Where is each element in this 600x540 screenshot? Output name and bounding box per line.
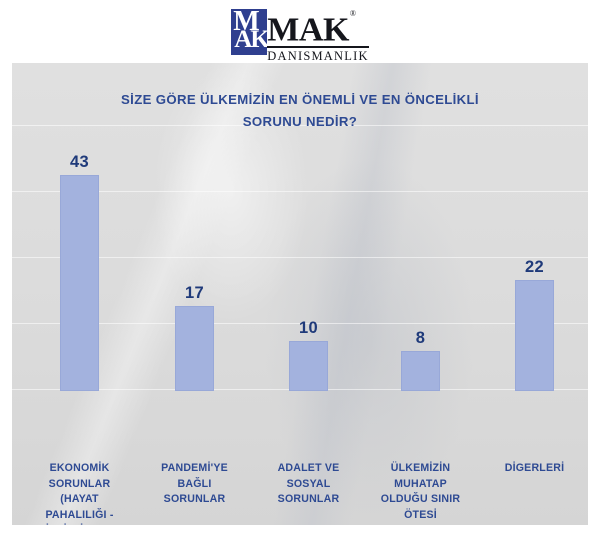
bar[interactable] (289, 341, 328, 391)
chart-panel: SİZE GÖRE ÜLKEMİZİN EN ÖNEMLİ VE EN ÖNCE… (12, 63, 588, 525)
bar[interactable] (175, 306, 214, 391)
category-label-digerleri: DİGERLERİ (477, 461, 588, 477)
logo-name-text: MAK (267, 11, 349, 48)
category-label-ekonomik-sorunlar: EKONOMİK SORUNLAR (HAYAT PAHALILIĞI - İŞ… (22, 461, 137, 525)
logo-name: MAK® (267, 9, 354, 45)
bar-value-label: 22 (525, 258, 544, 276)
category-label-sinir-otesi-sorunlar: ÜLKEMİZİN MUHATAP OLDUĞU SINIR ÖTESİ SOR… (363, 461, 478, 525)
plot-area: 43 EKONOMİK SORUNLAR (HAYAT PAHALILIĞI -… (12, 63, 588, 525)
bar-value-label: 43 (70, 153, 89, 171)
mak-logo: M AK MAK® DANISMANLIK (231, 9, 368, 55)
bar-group-sinir-otesi-sorunlar[interactable]: 8 (363, 63, 478, 391)
bar-value-label: 17 (185, 284, 204, 302)
chart-page: M AK MAK® DANISMANLIK SİZE GÖRE ÜLKEMİZİ… (0, 0, 600, 540)
logo-wordmark: MAK® DANISMANLIK (264, 9, 368, 64)
bar[interactable] (401, 351, 440, 391)
bar[interactable] (60, 175, 99, 391)
bar-value-label: 8 (416, 329, 425, 347)
page-header: M AK MAK® DANISMANLIK (0, 0, 600, 62)
logo-mark-bottom-letters: AK (234, 26, 267, 54)
category-label-adalet-ve-sosyal-sorunlar: ADALET VE SOSYAL SORUNLAR (251, 461, 366, 508)
bar-value-label: 10 (299, 319, 318, 337)
category-label-pandemiye-bagli-sorunlar: PANDEMİ'YE BAĞLI SORUNLAR (137, 461, 252, 508)
bar-group-digerleri[interactable]: 22 (477, 63, 588, 391)
bar[interactable] (515, 280, 554, 391)
logo-mark-icon: M AK (231, 9, 267, 55)
bar-group-adalet-ve-sosyal-sorunlar[interactable]: 10 (251, 63, 366, 391)
bar-group-pandemiye-bagli-sorunlar[interactable]: 17 (137, 63, 252, 391)
bar-group-ekonomik-sorunlar[interactable]: 43 (22, 63, 137, 391)
registered-trademark-icon: ® (350, 9, 356, 18)
